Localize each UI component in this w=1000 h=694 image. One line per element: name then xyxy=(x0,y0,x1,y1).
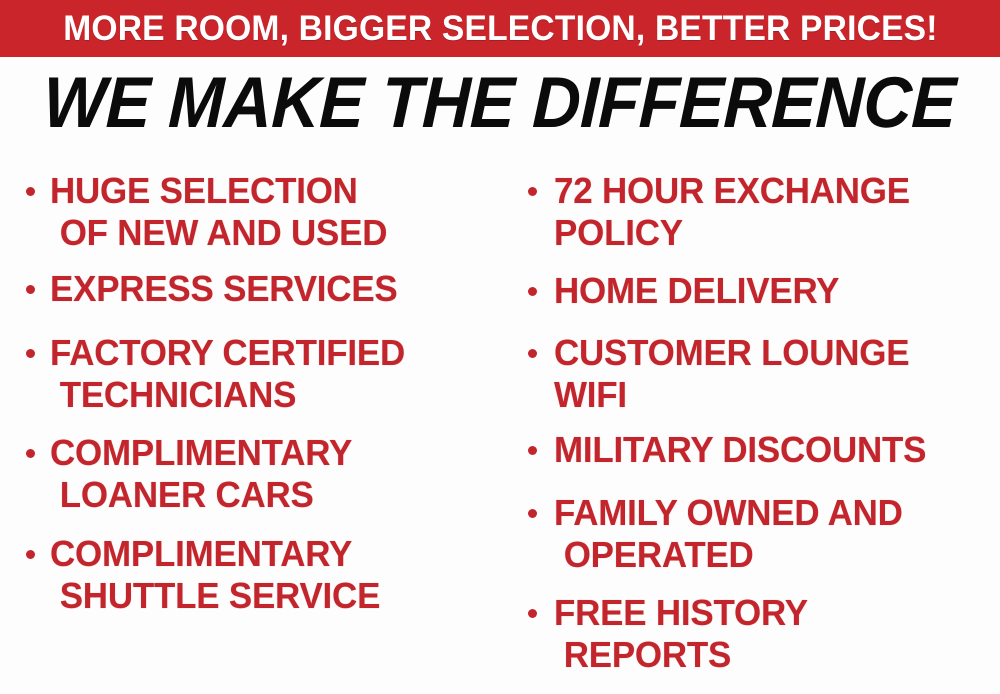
list-item-line-1: 72 HOUR EXCHANGE xyxy=(554,170,987,212)
list-item-line-1: FAMILY OWNED AND xyxy=(554,492,987,534)
list-item-line-1: COMPLIMENTARY xyxy=(50,432,487,474)
list-item: HUGE SELECTION OF NEW AND USED xyxy=(0,170,500,254)
bullet-dot-icon xyxy=(528,349,537,358)
list-item-line-1: COMPLIMENTARY xyxy=(50,533,487,575)
list-item: MILITARY DISCOUNTS xyxy=(500,429,1000,471)
list-item-line-1: FREE HISTORY xyxy=(554,592,987,634)
list-item-line-2: OPERATED xyxy=(554,534,987,576)
bullet-dot-icon xyxy=(528,187,537,196)
benefits-columns: HUGE SELECTION OF NEW AND USED EXPRESS S… xyxy=(0,160,1000,694)
bullet-dot-icon xyxy=(26,187,35,196)
list-item-line-1: EXPRESS SERVICES xyxy=(50,268,487,310)
bullet-dot-icon xyxy=(26,285,35,294)
list-item: 72 HOUR EXCHANGE POLICY xyxy=(500,170,1000,254)
bullet-dot-icon xyxy=(26,349,35,358)
bullet-dot-icon xyxy=(26,550,35,559)
promo-poster: MORE ROOM, BIGGER SELECTION, BETTER PRIC… xyxy=(0,0,1000,694)
list-item-line-2: REPORTS xyxy=(554,634,987,676)
list-item: FAMILY OWNED AND OPERATED xyxy=(500,492,1000,576)
bullet-dot-icon xyxy=(528,287,537,296)
list-item: HOME DELIVERY xyxy=(500,270,1000,312)
bullet-dot-icon xyxy=(26,449,35,458)
list-item-line-1: HOME DELIVERY xyxy=(554,270,987,312)
list-item-line-1: CUSTOMER LOUNGE xyxy=(554,332,987,374)
headline-container: WE MAKE THE DIFFERENCE xyxy=(0,64,1000,142)
top-banner: MORE ROOM, BIGGER SELECTION, BETTER PRIC… xyxy=(0,0,1000,57)
list-item: COMPLIMENTARY LOANER CARS xyxy=(0,432,500,516)
list-item: COMPLIMENTARY SHUTTLE SERVICE xyxy=(0,533,500,617)
bullet-dot-icon xyxy=(528,509,537,518)
list-item: EXPRESS SERVICES xyxy=(0,268,500,310)
list-item-line-2: POLICY xyxy=(554,212,987,254)
bullet-dot-icon xyxy=(528,446,537,455)
list-item-line-1: FACTORY CERTIFIED xyxy=(50,332,487,374)
banner-headline-text: MORE ROOM, BIGGER SELECTION, BETTER PRIC… xyxy=(63,11,937,46)
benefits-column-right: 72 HOUR EXCHANGE POLICY HOME DELIVERY CU… xyxy=(500,160,1000,694)
list-item: FREE HISTORY REPORTS xyxy=(500,592,1000,676)
list-item-line-2: LOANER CARS xyxy=(50,474,487,516)
list-item-line-1: MILITARY DISCOUNTS xyxy=(554,429,987,471)
list-item-line-1: HUGE SELECTION xyxy=(50,170,487,212)
benefits-column-left: HUGE SELECTION OF NEW AND USED EXPRESS S… xyxy=(0,160,500,694)
bullet-dot-icon xyxy=(528,609,537,618)
list-item-line-2: OF NEW AND USED xyxy=(50,212,487,254)
page-title: WE MAKE THE DIFFERENCE xyxy=(43,67,958,139)
list-item-line-2: TECHNICIANS xyxy=(50,374,487,416)
list-item: FACTORY CERTIFIED TECHNICIANS xyxy=(0,332,500,416)
list-item-line-2: SHUTTLE SERVICE xyxy=(50,575,487,617)
list-item-line-2: WIFI xyxy=(554,374,987,416)
list-item: CUSTOMER LOUNGE WIFI xyxy=(500,332,1000,416)
